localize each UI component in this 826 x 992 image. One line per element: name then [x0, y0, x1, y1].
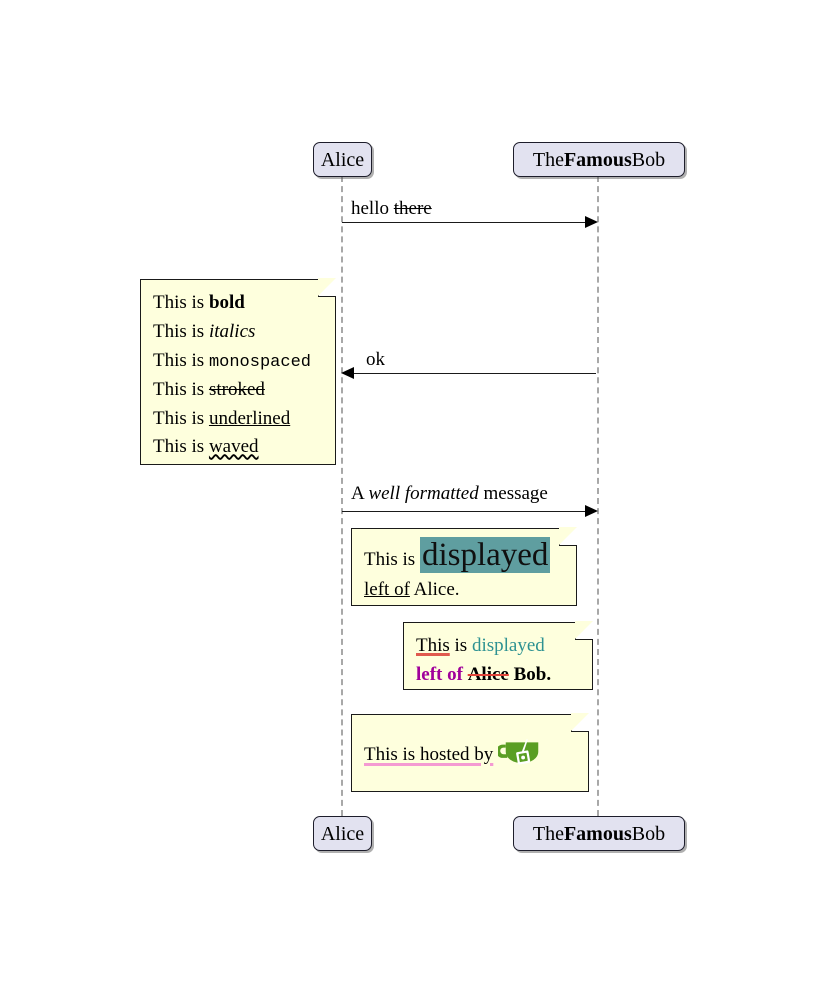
note-colored-line-1: This is displayed: [416, 632, 580, 661]
participant-bob-prefix: The: [533, 824, 564, 844]
note-fold-icon: [559, 528, 577, 546]
message-1-arrowhead-icon: [585, 216, 598, 228]
message-1-text-struck: there: [394, 198, 432, 219]
note-line-prefix: This is: [153, 350, 209, 371]
participant-bob-suffix: Bob: [632, 150, 665, 170]
note-line-value-underlined: underlined: [209, 408, 290, 429]
note-line-value-italic: italics: [209, 321, 255, 342]
tea-cup-icon: [498, 735, 546, 769]
message-3-text-italic: well formatted: [368, 483, 478, 504]
note-formatting-line-4: This is stroked: [153, 376, 323, 405]
note-displayed-prefix: This is: [364, 549, 420, 570]
participant-alice-top[interactable]: Alice: [313, 142, 372, 177]
note-colored-magenta: left of: [416, 664, 463, 685]
note-formatting-line-1: This is bold: [153, 289, 323, 318]
note-line-value-bold: bold: [209, 292, 245, 313]
message-1-line: [342, 222, 594, 223]
participant-alice-label: Alice: [321, 824, 364, 844]
note-formatting-line-2: This is italics: [153, 318, 323, 347]
participant-alice-bottom[interactable]: Alice: [313, 816, 372, 851]
participant-bob-bold: Famous: [564, 150, 632, 170]
note-colored-middle: is: [450, 635, 472, 656]
note-displayed-rest: Alice.: [410, 579, 460, 600]
note-colored-teal: displayed: [472, 635, 545, 656]
participant-bob-bottom[interactable]: The Famous Bob: [513, 816, 685, 851]
message-2-text: ok: [366, 349, 385, 370]
message-3-arrowhead-icon: [585, 505, 598, 517]
message-3-line: [342, 511, 594, 512]
message-2-line: [346, 373, 596, 374]
note-hosted[interactable]: This is hosted by: [351, 714, 589, 792]
message-2-label: ok: [366, 350, 385, 369]
note-colored-underlined: This: [416, 635, 450, 656]
note-formatting-line-5: This is underlined: [153, 405, 323, 434]
note-fold-icon: [318, 279, 336, 297]
participant-bob-top[interactable]: The Famous Bob: [513, 142, 685, 177]
note-formatting-line-3: This is monospaced: [153, 347, 323, 376]
note-line-prefix: This is: [153, 436, 209, 457]
note-line-prefix: This is: [153, 408, 209, 429]
message-3-text-normal-2: message: [479, 483, 548, 504]
note-displayed-highlight: displayed: [420, 537, 550, 573]
note-line-prefix: This is: [153, 379, 209, 400]
note-hosted-text: This is hosted by: [364, 744, 493, 765]
note-line-prefix: This is: [153, 292, 209, 313]
participant-bob-bold: Famous: [564, 824, 632, 844]
message-3-text-normal-1: A: [351, 483, 368, 504]
note-displayed-underlined: left of: [364, 579, 410, 600]
note-formatting[interactable]: This is bold This is italics This is mon…: [140, 279, 336, 465]
note-hosted-line: This is hosted by: [364, 735, 576, 770]
lifeline-bob: [597, 176, 599, 816]
note-line-prefix: This is: [153, 321, 209, 342]
note-fold-icon: [575, 622, 593, 640]
note-colored-line-2: left of Alice Bob.: [416, 661, 580, 690]
message-1-label: hello there: [351, 199, 432, 218]
note-line-value-waved: waved: [209, 436, 259, 457]
note-displayed-big-line-2: left of Alice.: [364, 576, 564, 604]
message-3-label: A well formatted message: [351, 484, 548, 503]
note-line-value-struck: stroked: [209, 379, 265, 400]
note-colored[interactable]: This is displayed left of Alice Bob.: [403, 622, 593, 690]
note-fold-icon: [571, 714, 589, 732]
note-formatting-line-6: This is waved: [153, 433, 323, 462]
note-colored-bold-tail: Bob.: [509, 664, 551, 685]
note-displayed-big[interactable]: This is displayed left of Alice.: [351, 528, 577, 606]
note-line-value-monospace: monospaced: [209, 353, 311, 372]
note-colored-struck: Alice: [468, 664, 509, 685]
participant-alice-label: Alice: [321, 150, 364, 170]
message-1-text-normal: hello: [351, 198, 394, 219]
lifeline-alice: [341, 176, 343, 816]
participant-bob-prefix: The: [533, 150, 564, 170]
message-2-arrowhead-icon: [341, 367, 354, 379]
note-displayed-big-line-1: This is displayed: [364, 535, 564, 576]
participant-bob-suffix: Bob: [632, 824, 665, 844]
sequence-diagram-canvas: Alice The Famous Bob hello there This is…: [0, 0, 826, 992]
